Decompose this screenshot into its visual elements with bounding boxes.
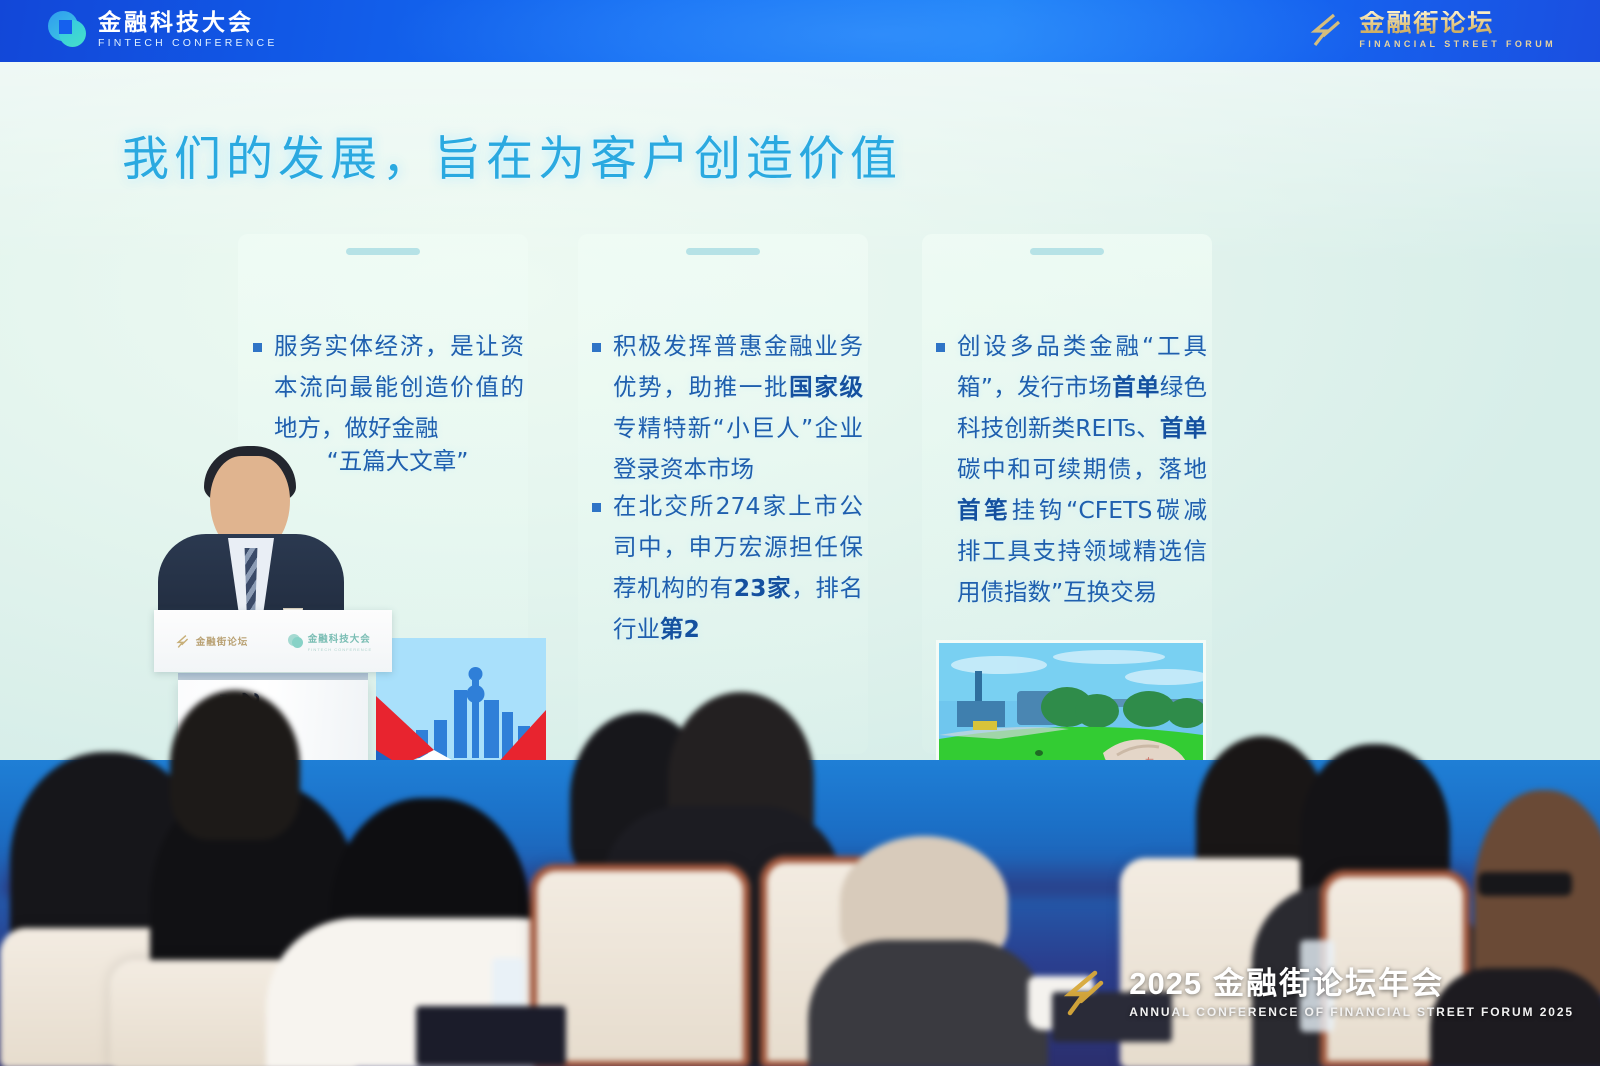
projection-screen: 我们的发展，旨在为客户创造价值 服务实体经济，是让资本流向最能创造价值的地方，做… (0, 62, 1600, 868)
conference-photo-stage: 金融科技大会 FINTECH CONFERENCE 金融街论坛 FINANCIA… (0, 0, 1600, 1066)
watermark-title: 2025 金融街论坛年会 (1129, 968, 1574, 999)
bullet-text: 创设多品类金融“工具箱”，发行市场首单绿色科技创新类REITs、首单碳中和可续期… (957, 326, 1207, 613)
bullet-square-icon (253, 343, 262, 352)
nameplate-forum-label: 金融街论坛 (196, 634, 249, 648)
nameplate-logo-forum: 金融街论坛 (174, 633, 249, 650)
card-top-bar (686, 248, 760, 255)
financial-street-forum-logo-icon (1304, 8, 1348, 52)
watermark-title-cn: 金融街论坛年会 (1213, 968, 1444, 999)
bullet-square-icon (592, 503, 601, 512)
top-banner: 金融科技大会 FINTECH CONFERENCE 金融街论坛 FINANCIA… (0, 0, 1600, 62)
bullet-item: 创设多品类金融“工具箱”，发行市场首单绿色科技创新类REITs、首单碳中和可续期… (936, 326, 1207, 613)
nameplate-fintech-label: 金融科技大会 (308, 631, 372, 645)
watermark-subtitle: ANNUAL CONFERENCE OF FINANCIAL STREET FO… (1129, 1006, 1574, 1018)
fintech-conference-logo-en: FINTECH CONFERENCE (98, 38, 278, 49)
bullet-text: 积极发挥普惠金融业务优势，助推一批国家级专精特新“小巨人”企业登录资本市场 (613, 326, 863, 490)
slide-title: 我们的发展，旨在为客户创造价值 (122, 120, 902, 189)
nameplate-fintech-sublabel: FINTECH CONFERENCE (308, 647, 372, 652)
financial-street-forum-mark-icon (174, 633, 191, 650)
backdrop-title: 2025 金融科技大会 (366, 884, 901, 956)
nameplate-logo-fintech: 金融科技大会 FINTECH CONFERENCE (288, 631, 372, 652)
lectern-nameplate: 金融街论坛 金融科技大会 FINTECH CONFERENCE (154, 610, 392, 672)
bullet-square-icon (592, 343, 601, 352)
bullet-item: 积极发挥普惠金融业务优势，助推一批国家级专精特新“小巨人”企业登录资本市场 (592, 326, 863, 490)
event-watermark: 2025 金融街论坛年会 ANNUAL CONFERENCE OF FINANC… (1055, 964, 1574, 1022)
bullet-square-icon (936, 343, 945, 352)
fintech-conference-mark-icon (288, 634, 303, 649)
financial-street-forum-logo-en: FINANCIAL STREET FORUM (1359, 40, 1556, 49)
bullet-text: 在北交所274家上市公司中，申万宏源担任保荐机构的有23家，排名行业第2 (613, 486, 863, 650)
financial-street-forum-logo: 金融街论坛 FINANCIAL STREET FORUM (1304, 8, 1556, 52)
watermark-year: 2025 (1129, 968, 1202, 999)
card-top-bar (1030, 248, 1104, 255)
bullet-item: 在北交所274家上市公司中，申万宏源担任保荐机构的有23家，排名行业第2 (592, 486, 863, 650)
fintech-conference-logo: 金融科技大会 FINTECH CONFERENCE (48, 11, 278, 49)
financial-street-forum-mark-icon (1055, 964, 1113, 1022)
fintech-conference-logo-icon (48, 11, 86, 49)
fintech-conference-logo-cn: 金融科技大会 (98, 11, 278, 34)
financial-street-forum-logo-cn: 金融街论坛 (1359, 11, 1556, 36)
card-top-bar (346, 248, 420, 255)
